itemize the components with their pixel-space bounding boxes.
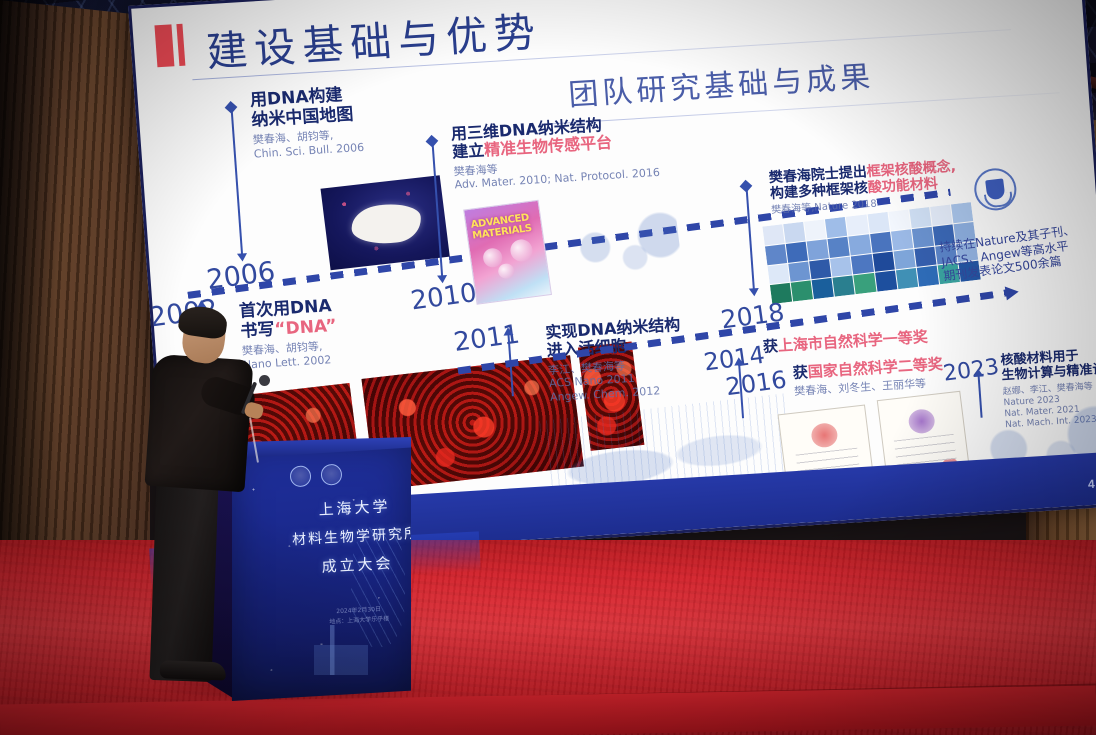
event-2006: 用DNA构建 纳米中国地图 樊春海、胡钧等, Chin. Sci. Bull. … xyxy=(249,85,364,160)
event-heading-accent2: 酸功能材料 xyxy=(867,176,938,196)
event-heading-accent: “DNA” xyxy=(274,315,338,339)
microphone-cable xyxy=(249,417,259,463)
gallery-cell xyxy=(891,229,913,250)
timeline-arrow-icon xyxy=(1005,285,1020,301)
event-heading-suffix: 概念, xyxy=(922,159,956,177)
gallery-cell xyxy=(812,278,834,299)
gallery-cell xyxy=(786,241,808,262)
gallery-cell xyxy=(875,271,897,292)
gallery-cell xyxy=(930,205,952,226)
slide-title: 建设基础与优势 xyxy=(204,0,544,78)
timeline-connector xyxy=(230,107,243,257)
figure-advanced-materials-cover: ADVANCED MATERIALS xyxy=(463,200,552,305)
gallery-cell xyxy=(951,202,973,223)
gallery-cell xyxy=(846,214,868,235)
gallery-cell xyxy=(762,224,784,245)
event-heading-accent: 上海市自然科学一等奖 xyxy=(777,328,928,355)
event-2016: 获国家自然科学二等奖 樊春海、刘冬生、王丽华等 xyxy=(792,356,944,399)
university-logo-icon xyxy=(289,465,311,487)
gallery-cell xyxy=(872,251,894,272)
gallery-cell xyxy=(825,217,847,238)
event-heading: 获上海市自然科学一等奖 xyxy=(762,329,928,356)
institute-logo-icon xyxy=(320,464,342,486)
journal-cover-title: ADVANCED MATERIALS xyxy=(470,213,537,242)
year-2006: 2006 xyxy=(205,256,277,296)
event-heading-prefix: 建立 xyxy=(452,141,485,162)
gallery-cell xyxy=(809,259,831,280)
gallery-cell xyxy=(854,273,876,294)
microphone-icon xyxy=(259,375,270,386)
gallery-cell xyxy=(791,281,813,302)
gallery-cell xyxy=(788,261,810,282)
event-heading-prefix: 获 xyxy=(792,363,808,382)
gallery-cell xyxy=(851,254,873,275)
event-2010: 用三维DNA纳米结构 建立精准生物传感平台 樊春海等 Adv. Mater. 2… xyxy=(450,113,660,192)
cover-graphic-cell xyxy=(497,263,515,280)
year-2023: 2023 xyxy=(942,355,1001,387)
map-markers xyxy=(320,175,449,270)
skyline-graphic xyxy=(314,625,368,675)
figure-sensor-schematic xyxy=(554,195,685,304)
gallery-cell xyxy=(828,236,850,257)
gallery-cell xyxy=(870,232,892,253)
year-2011: 2011 xyxy=(452,320,522,358)
gallery-cell xyxy=(804,219,826,240)
gallery-cell xyxy=(917,266,939,287)
logo-bar-narrow xyxy=(176,24,185,66)
gallery-cell xyxy=(849,234,871,255)
figure-dna-china-map xyxy=(320,175,449,270)
presenter-legs xyxy=(150,480,219,682)
conference-photo-scene: 建设基础与优势 团队研究基础与成果 用DNA构建 纳米中国地图 樊春海、胡钧等,… xyxy=(0,0,1096,735)
cover-graphic-cell xyxy=(509,238,534,263)
presenter-shoe xyxy=(160,660,227,680)
gallery-cell xyxy=(765,244,787,265)
certificate-seal-icon xyxy=(810,421,839,448)
gallery-cell xyxy=(807,239,829,260)
gallery-cell xyxy=(867,212,889,233)
gallery-cell xyxy=(914,246,936,267)
event-2014: 获上海市自然科学一等奖 xyxy=(762,329,928,356)
certificate-seal-icon xyxy=(907,408,936,435)
podium-logo-row xyxy=(289,464,342,488)
gallery-cell xyxy=(833,276,855,297)
gallery-cell xyxy=(893,249,915,270)
university-crest-icon xyxy=(972,166,1019,212)
presenter-suit-jacket xyxy=(145,354,254,493)
timeline-connector xyxy=(745,186,755,292)
slide-page-number: 4 xyxy=(1087,477,1095,491)
gallery-cell xyxy=(911,227,933,248)
slide-subtitle: 团队研究基础与成果 xyxy=(567,52,876,115)
gallery-cell xyxy=(783,222,805,243)
event-2011: 实现DNA纳米结构 进入活细胞 李江、樊春海等 ACS Nano 2011 An… xyxy=(545,316,686,404)
gallery-cell xyxy=(767,263,789,284)
year-2010: 2010 xyxy=(409,278,479,316)
logo-bar-wide xyxy=(154,24,174,67)
slide-logo-mark xyxy=(154,24,185,68)
presenter xyxy=(135,305,270,705)
gallery-cell xyxy=(888,209,910,230)
gallery-cell xyxy=(896,268,918,289)
gallery-cell xyxy=(909,207,931,228)
event-heading-prefix: 获 xyxy=(762,337,778,356)
gallery-cell xyxy=(830,256,852,277)
